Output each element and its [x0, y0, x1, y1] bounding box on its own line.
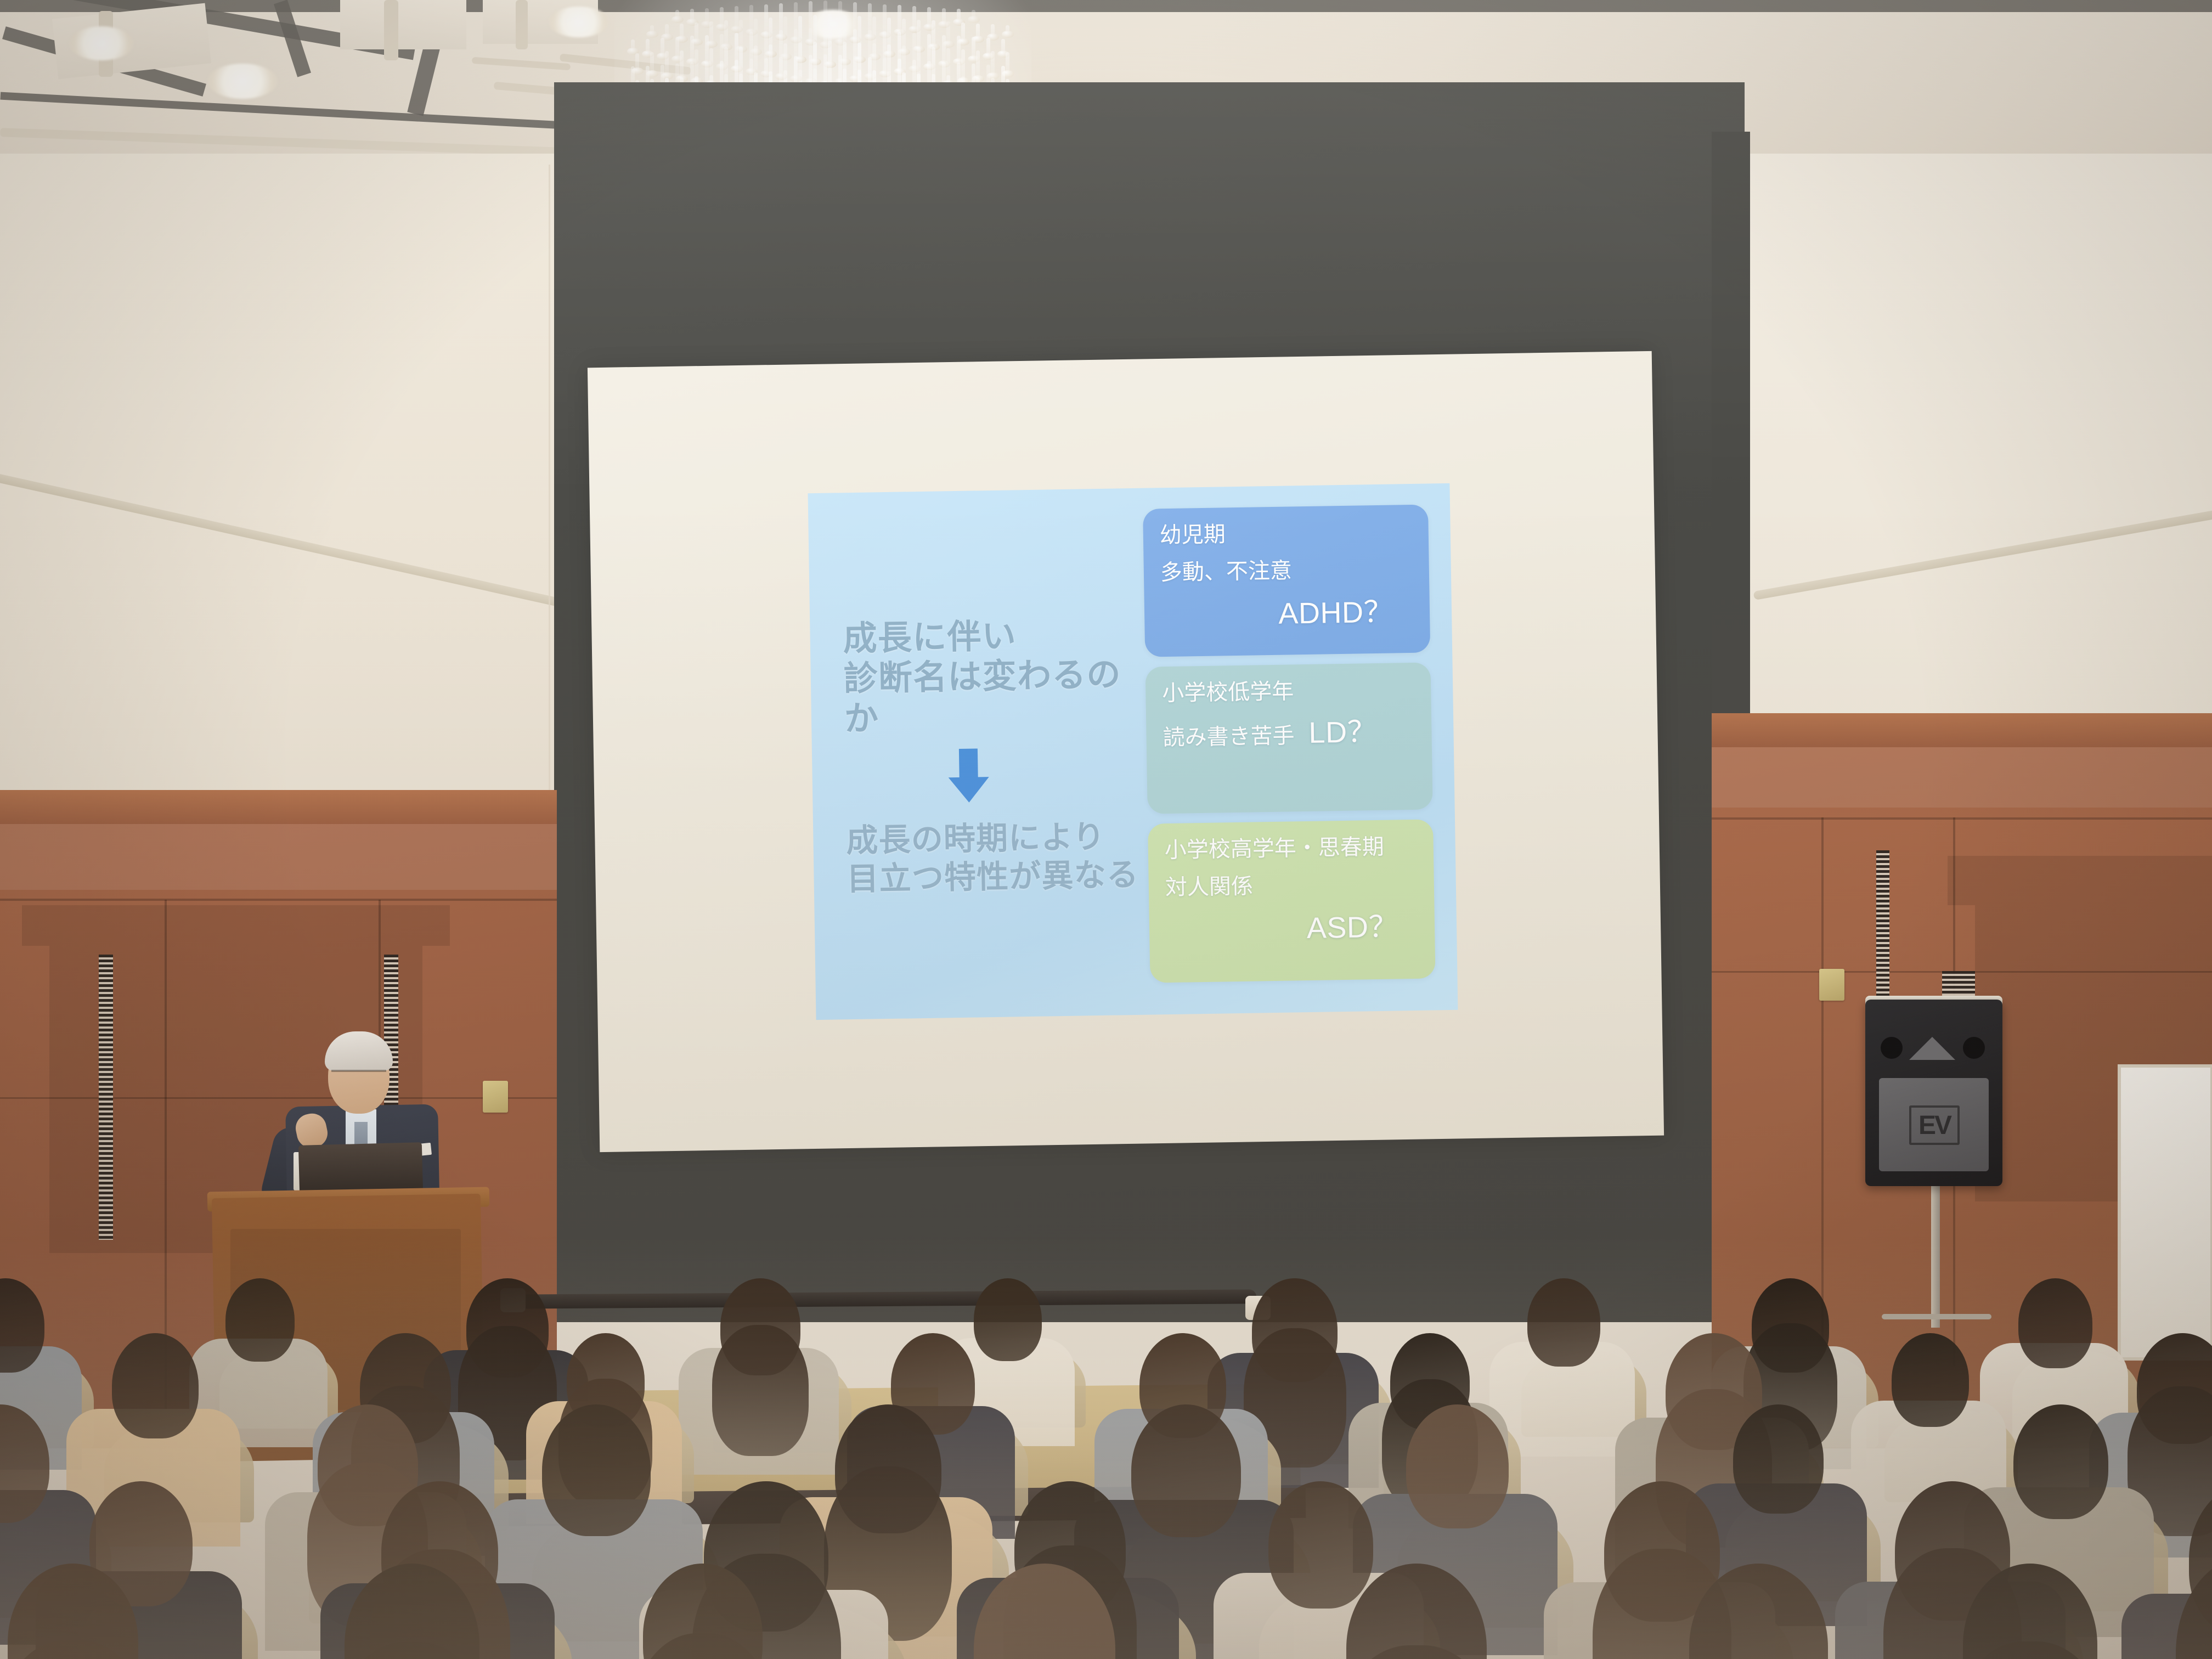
ld-stage-label: 小学校低学年 [1162, 677, 1415, 706]
speaker-glasses [331, 1070, 386, 1079]
slide-right-column: 幼児期 多動、不注意 ADHD？ 小学校低学年 読み書き苦手 LD？ 小学校高学… [1143, 504, 1436, 992]
stage-box-asd: 小学校高学年・思春期 対人関係 ASD？ [1148, 819, 1435, 983]
slide-subtext-line2: 目立つ特性が異なる [847, 855, 1143, 898]
downlight-icon [207, 64, 278, 99]
ld-trait-label: 読み書き苦手 [1163, 723, 1295, 751]
wall-plate [483, 1081, 508, 1113]
downlight-icon [549, 7, 609, 37]
speaker-stand-legs [1882, 1314, 1991, 1319]
asd-trait-label: 対人関係 [1165, 871, 1418, 900]
ld-trait-row: 読み書き苦手 LD？ [1163, 714, 1415, 752]
slide-heading-line2: 診断名は変わるのか [843, 654, 1141, 740]
slide-subtext-line1: 成長の時期により [846, 817, 1143, 860]
stage-box-ld: 小学校低学年 読み書き苦手 LD？ [1145, 662, 1433, 814]
ld-tag-label: LD？ [1308, 715, 1378, 750]
pa-driver-hole [1963, 1037, 1985, 1059]
slide-heading: 成長に伴い 診断名は変わるのか [843, 614, 1141, 740]
ev-logo-icon: EV [1909, 1105, 1960, 1145]
air-grille [99, 955, 113, 1240]
upper-wall-right [1728, 154, 2212, 735]
slide-left-column: 成長に伴い 診断名は変わるのか 成長の時期により 目立つ特性が異なる [830, 488, 1145, 1020]
lecture-hall-photo: 成長に伴い 診断名は変わるのか 成長の時期により 目立つ特性が異なる 幼児期 多… [0, 0, 2212, 1659]
adhd-stage-label: 幼児期 [1159, 519, 1412, 548]
pa-driver-hole [1881, 1037, 1903, 1059]
slide-subtext: 成長の時期により 目立つ特性が異なる [846, 817, 1143, 899]
pa-horn [1909, 1037, 1955, 1060]
stage-box-adhd: 幼児期 多動、不注意 ADHD？ [1143, 504, 1430, 657]
presentation-slide: 成長に伴い 診断名は変わるのか 成長の時期により 目立つ特性が異なる 幼児期 多… [808, 483, 1458, 1020]
adhd-tag-label: ADHD？ [1160, 587, 1413, 634]
whiteboard [2118, 1064, 2212, 1361]
down-arrow-icon [944, 748, 994, 804]
asd-stage-label: 小学校高学年・思春期 [1164, 834, 1417, 863]
downlight-icon [69, 26, 134, 60]
wall-plate [1819, 969, 1844, 1001]
adhd-trait-label: 多動、不注意 [1160, 556, 1413, 585]
asd-tag-label: ASD？ [1165, 902, 1418, 949]
slide-heading-line1: 成長に伴い [843, 614, 1139, 659]
